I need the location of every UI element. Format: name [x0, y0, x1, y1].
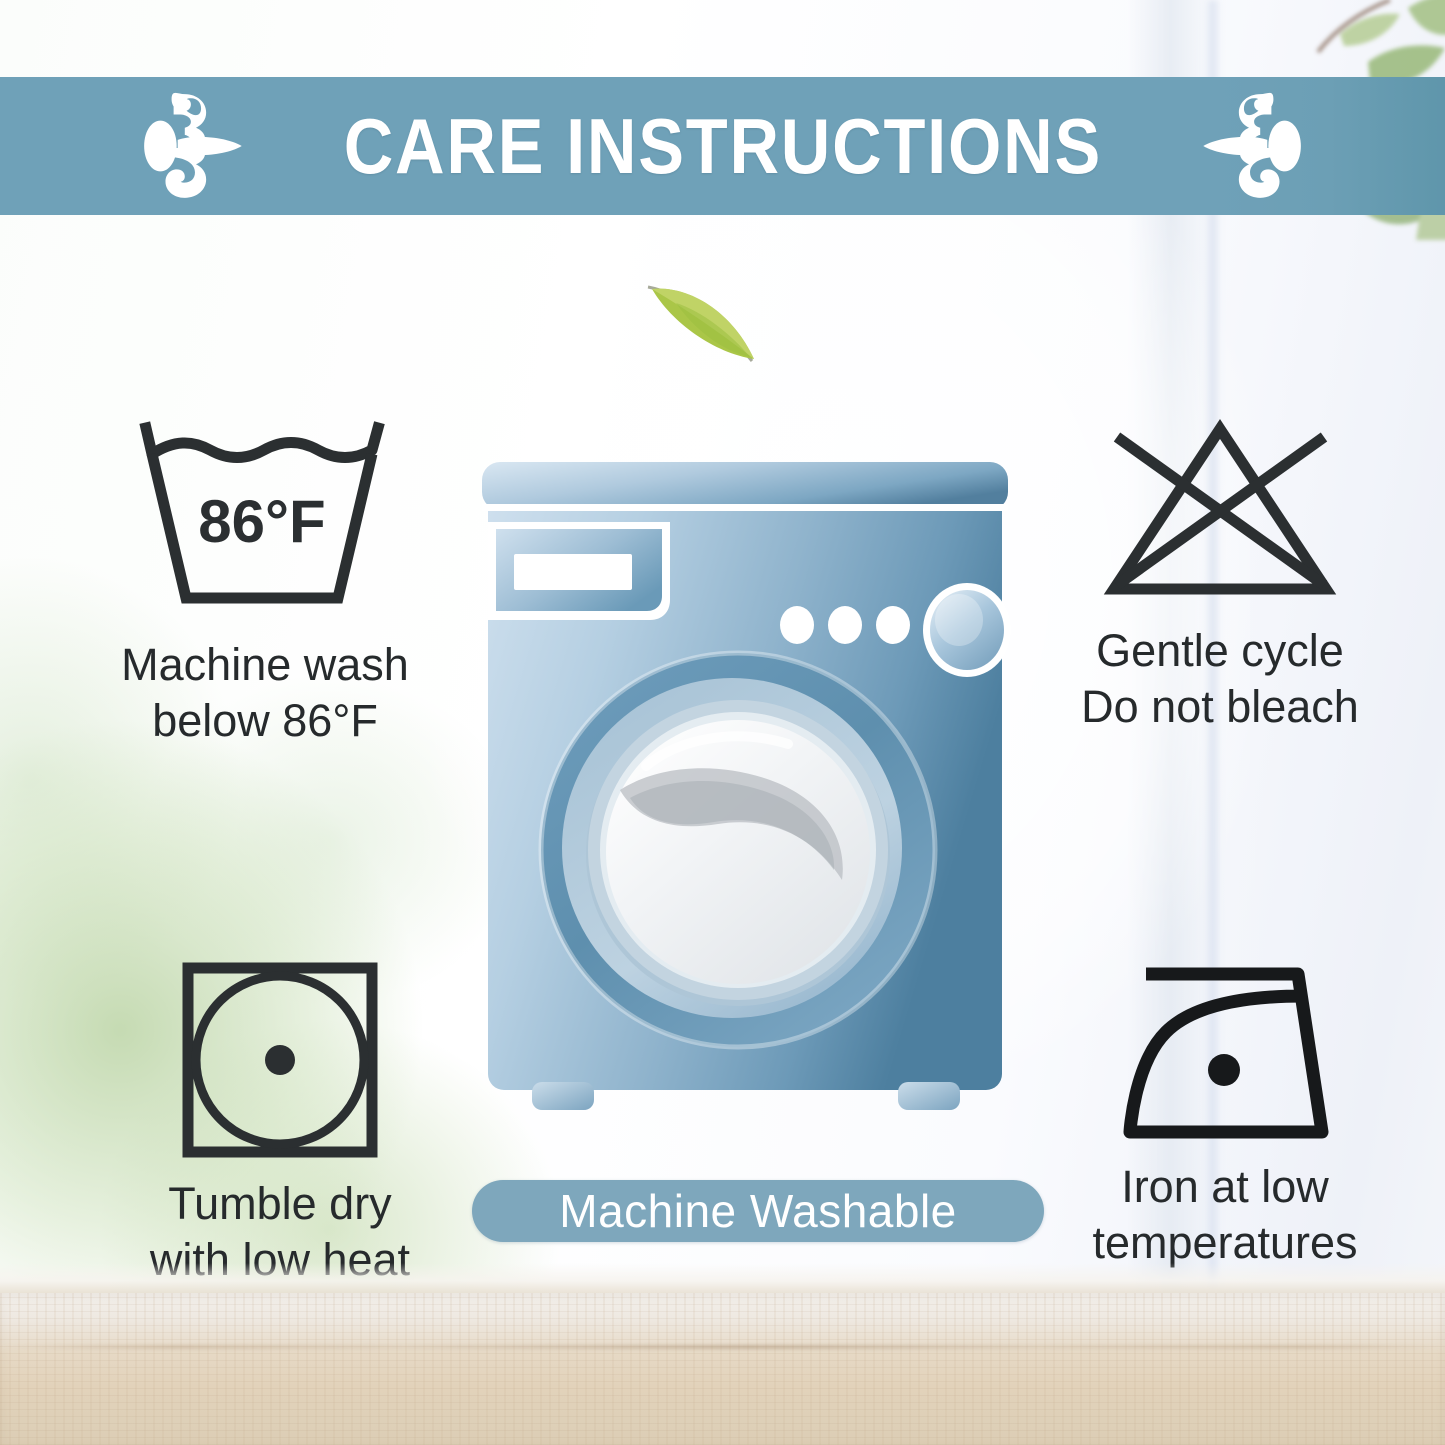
washing-machine-illustration: [470, 450, 1020, 1140]
instruction-label-line1: Gentle cycle: [1081, 623, 1359, 679]
status-badge-label: Machine Washable: [559, 1188, 957, 1234]
green-leaf-icon: [640, 275, 780, 365]
instruction-machine-wash: 86°F Machine wash below 86°F: [40, 420, 490, 749]
instruction-label-line2: below 86°F: [121, 693, 409, 749]
table-edge: [0, 1263, 1445, 1293]
instruction-label-line1: Tumble dry: [150, 1176, 410, 1232]
iron-low-temperature-icon: [1108, 960, 1343, 1145]
page-title: CARE INSTRUCTIONS: [343, 107, 1101, 185]
status-badge: Machine Washable: [472, 1180, 1044, 1242]
do-not-bleach-triangle-icon: [1093, 415, 1348, 605]
tumble-dry-low-heat-icon: [180, 960, 380, 1160]
wash-tub-icon: 86°F: [138, 420, 393, 615]
instruction-gentle-cycle-no-bleach: Gentle cycle Do not bleach: [1000, 415, 1440, 735]
wooden-table-surface: [0, 1293, 1445, 1445]
instruction-iron-low: Iron at low temperatures: [1005, 960, 1445, 1271]
instruction-label-line1: Iron at low: [1092, 1159, 1357, 1215]
table-grain-line: [0, 1345, 1445, 1349]
care-instructions-graphic: CARE INSTRUCTIONS 86°F Machine wash belo…: [0, 0, 1445, 1445]
fleur-de-lis-icon: [1187, 90, 1309, 202]
wash-temperature-value: 86°F: [198, 488, 325, 555]
header-banner: CARE INSTRUCTIONS: [0, 77, 1445, 215]
instruction-label-line2: Do not bleach: [1081, 679, 1359, 735]
instruction-label-line1: Machine wash: [121, 637, 409, 693]
fleur-de-lis-icon: [136, 90, 258, 202]
instruction-tumble-dry-low: Tumble dry with low heat: [55, 960, 505, 1288]
